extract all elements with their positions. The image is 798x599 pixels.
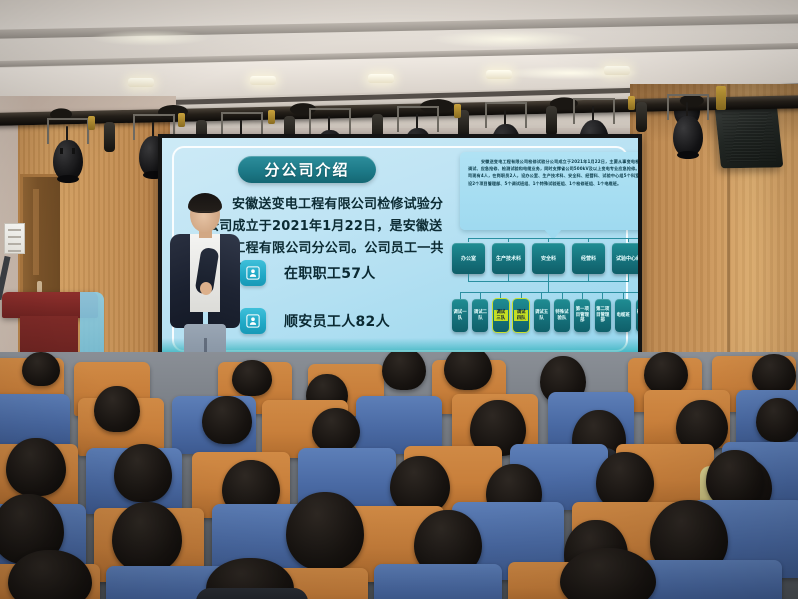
org-node-label: 检修一队 xyxy=(637,310,638,321)
org-node-label: 安全科 xyxy=(541,256,556,262)
slide-callout-text: 安徽送变电工程有限公司检修试验分公司成立于2021年1月22日，主要从事变电检修… xyxy=(460,152,638,187)
org-node-label: 调试三队 xyxy=(494,310,508,321)
org-connector xyxy=(548,238,549,242)
audience-head xyxy=(382,352,426,390)
org-connector xyxy=(602,292,603,299)
org-connector xyxy=(468,238,469,242)
org-connector xyxy=(588,238,589,242)
recessed-lamp-icon xyxy=(604,66,630,75)
audience-head xyxy=(112,502,182,572)
ceiling-glow xyxy=(90,30,210,46)
org-node-label: 调试一队 xyxy=(453,310,467,321)
org-node: 调试三队 xyxy=(493,299,509,332)
org-node: 调试四队 xyxy=(513,299,529,332)
org-connector xyxy=(460,292,638,293)
org-connector xyxy=(548,274,549,281)
org-node-label: 第一项目管理部 xyxy=(575,307,589,323)
org-node: 调试一队 xyxy=(452,299,468,332)
org-connector xyxy=(562,292,563,299)
hanging-fixture xyxy=(104,122,115,152)
audience-head xyxy=(114,444,172,502)
org-node: 生产技术科 xyxy=(492,243,525,274)
person-icon xyxy=(240,260,266,286)
org-node: 试验中心组 xyxy=(612,243,638,274)
hanging-fixture xyxy=(636,102,647,132)
recessed-lamp-icon xyxy=(128,78,154,87)
org-connector xyxy=(521,292,522,299)
org-connector xyxy=(508,274,509,281)
list-item: 在职职工57人 xyxy=(240,260,470,286)
person-icon xyxy=(240,308,266,334)
truss-wrap xyxy=(680,94,704,107)
org-connector xyxy=(468,238,638,239)
org-node-label: 试验中心组 xyxy=(616,256,638,262)
org-connector xyxy=(460,292,461,299)
org-node: 经营科 xyxy=(572,243,605,274)
org-connector xyxy=(628,274,629,281)
org-node: 办公室 xyxy=(452,243,485,274)
org-connector xyxy=(541,292,542,299)
truss-clamp xyxy=(716,86,726,110)
door-gap xyxy=(33,189,39,275)
org-node: 检修一队 xyxy=(636,299,638,332)
wall-notice-sign xyxy=(4,223,25,254)
list-item: 顺安员工人82人 xyxy=(240,308,470,334)
org-connector xyxy=(500,292,501,299)
audience-head xyxy=(752,354,796,394)
org-node-label: 第二项目管理部 xyxy=(596,307,610,323)
slide-callout-bubble: 安徽送变电工程有限公司检修试验分公司成立于2021年1月22日，主要从事变电检修… xyxy=(460,152,638,230)
org-node: 特殊试验队 xyxy=(554,299,570,332)
org-node-label: 经营科 xyxy=(581,256,596,262)
org-connector xyxy=(588,274,589,281)
recessed-lamp-icon xyxy=(250,76,276,85)
recessed-lamp-icon xyxy=(368,74,394,83)
audience-area xyxy=(0,352,798,599)
audience-head xyxy=(22,352,60,386)
list-item-label: 在职职工57人 xyxy=(284,263,376,283)
org-node-label: 调试二队 xyxy=(473,310,487,321)
truss-clamp xyxy=(178,113,185,127)
slide-title: 分公司介绍 xyxy=(264,159,349,180)
truss-clamp xyxy=(454,104,461,118)
audience-head xyxy=(756,398,798,442)
seat[interactable] xyxy=(374,564,502,599)
org-node: 调试五队 xyxy=(534,299,550,332)
org-node: 电缆班 xyxy=(615,299,631,332)
audience-shoulders xyxy=(196,588,308,599)
hanging-fixture xyxy=(546,106,557,136)
org-connector xyxy=(468,274,469,281)
org-chart: 办公室 生产技术科 安全科 经营科 试验中心组 xyxy=(452,238,638,356)
org-connector xyxy=(623,292,624,299)
seat[interactable] xyxy=(642,560,782,599)
org-chart-row-1: 办公室 生产技术科 安全科 经营科 试验中心组 xyxy=(452,243,638,274)
list-item-label: 顺安员工人82人 xyxy=(284,311,390,331)
presenter-hair xyxy=(188,193,222,213)
ceiling-glow xyxy=(430,30,590,48)
org-connector xyxy=(480,292,481,299)
truss-clamp xyxy=(628,96,635,110)
audience-head xyxy=(644,352,688,394)
audience-head xyxy=(94,386,140,432)
org-chart-row-2: 调试一队 调试二队 调试三队 调试四队 调试五队 特殊试验队 第一项目管理部 第… xyxy=(452,299,638,332)
speaker-grill xyxy=(721,112,776,163)
wall-speaker xyxy=(715,106,784,169)
org-node-label: 特殊试验队 xyxy=(555,310,569,321)
auditorium-photo: 分公司介绍 安徽送变电工程有限公司检修试验分公司成立于2021年1月22日，是安… xyxy=(0,0,798,599)
org-node: 调试二队 xyxy=(472,299,488,332)
slide-title-pill: 分公司介绍 xyxy=(238,156,376,183)
org-connector xyxy=(582,292,583,299)
org-node-label: 生产技术科 xyxy=(496,256,521,262)
audience-head xyxy=(232,360,272,396)
org-node-label: 调试四队 xyxy=(514,310,528,321)
audience-head xyxy=(6,438,66,496)
glasses-icon xyxy=(193,211,217,216)
recessed-lamp-icon xyxy=(486,70,512,79)
org-node: 第一项目管理部 xyxy=(574,299,590,332)
org-connector xyxy=(628,238,629,242)
truss-clamp xyxy=(268,110,275,124)
org-node: 安全科 xyxy=(532,243,565,274)
org-node-label: 电缆班 xyxy=(617,313,630,318)
audience-head xyxy=(286,492,364,570)
audience-head xyxy=(444,352,492,390)
org-node: 第二项目管理部 xyxy=(595,299,611,332)
audience-head xyxy=(202,396,252,444)
audience-head xyxy=(312,408,360,452)
org-connector xyxy=(548,281,549,292)
org-node-label: 办公室 xyxy=(461,256,476,262)
org-node-label: 调试五队 xyxy=(535,310,549,321)
truss-clamp xyxy=(88,116,95,130)
presenter-hand xyxy=(200,282,212,295)
org-connector xyxy=(508,238,509,242)
